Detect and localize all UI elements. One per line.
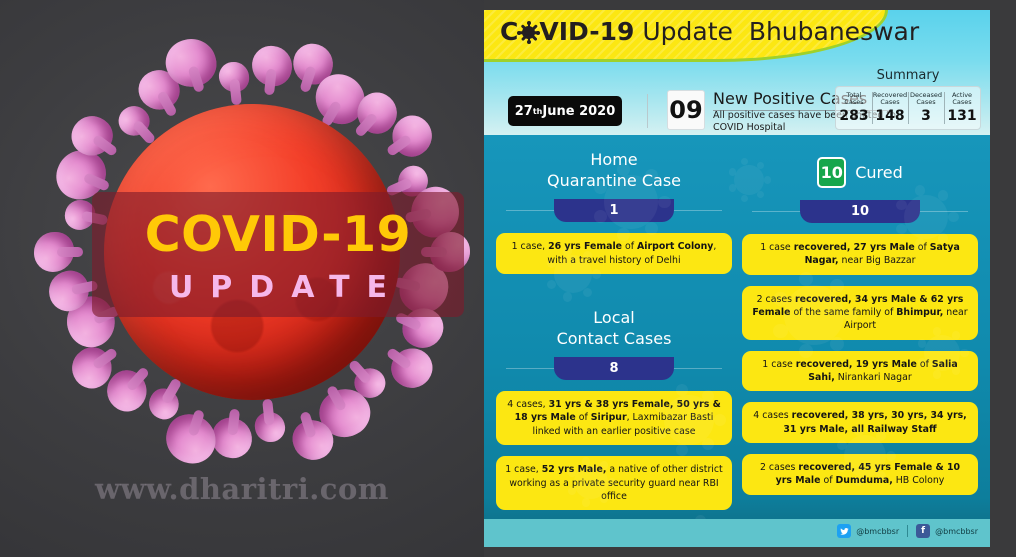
background-virus-decoration [734,165,764,195]
watermark-text: www.dharitri.com [0,472,484,506]
cured-title: Cured [855,162,903,183]
summary-cell-label: Recovered Cases [872,92,908,107]
background-virus-decoration [844,435,886,477]
summary-cell-value: 148 [875,108,904,124]
summary-label: Summary [833,68,983,83]
header-gap [733,17,749,46]
summary-cell-recovered: Recovered Cases 148 [872,87,908,129]
header-city: Bhubaneswar [749,17,919,46]
background-virus-decoration [574,465,608,499]
background-virus-decoration [784,285,844,345]
header-update-label: Update [642,17,733,46]
covid-update-poster: C VID-19 Update Bhubaneswar 27th June 20… [484,10,990,547]
virus-spike [254,411,287,444]
background-virus-decoration [604,175,658,229]
facebook-icon: f [916,524,930,538]
new-cases-count: 09 [667,90,705,130]
summary-cell-total: Total Cases 283 [836,87,872,129]
virus-icon [518,22,539,43]
social-separator [907,525,908,537]
local-contact-title: Local Contact Cases [496,307,732,349]
summary-cell-value: 283 [839,108,868,124]
local-contact-title-line1: Local [593,308,634,327]
summary-box: Total Cases 283 Recovered Cases 148 Dece… [835,86,981,130]
local-contact-count: 8 [554,357,674,380]
local-contact-count-wrap: 8 [496,357,732,380]
social-links: @bmcbbsr f @bmcbbsr [837,524,978,538]
date-badge: 27th June 2020 [508,96,622,126]
page-subtitle: UPDATE [92,270,464,305]
summary-cell-active: Active Cases 131 [944,87,980,129]
virus-spike [384,341,440,397]
virus-photo-panel: COVID-19 UPDATE www.dharitri.com [0,0,484,557]
summary-cell-label: Deceased Cases [908,92,944,107]
cured-header: 10 Cured [742,157,978,188]
virus-spike [210,416,254,460]
case-card: 1 case, 26 yrs Female of Airport Colony,… [496,233,732,274]
background-virus-decoration [554,255,592,293]
facebook-link[interactable]: f @bmcbbsr [916,524,978,538]
header-divider [647,94,648,128]
background-virus-decoration [904,195,948,239]
summary-cell-label: Total Cases [836,92,872,107]
brand-prefix: C [500,17,518,46]
poster-footer: @bmcbbsr f @bmcbbsr [484,519,990,547]
twitter-handle: @bmcbbsr [856,527,899,536]
twitter-icon [837,524,851,538]
poster-body: Home Quarantine Case 1 1 case, 26 yrs Fe… [484,135,990,547]
brand-suffix: VID-19 [539,17,634,46]
facebook-handle: @bmcbbsr [935,527,978,536]
virus-spike [217,60,250,93]
summary-cell-value: 3 [921,108,931,124]
cured-badge: 10 [817,157,846,188]
home-quarantine-title-line1: Home [590,150,637,169]
date-month-year: June 2020 [542,104,615,119]
screenshot-root: COVID-19 UPDATE www.dharitri.com C [0,0,1016,557]
date-ordinal: th [533,107,543,116]
summary-cell-value: 131 [947,108,976,124]
page-title: COVID-19 [92,206,464,263]
summary-cell-label: Active Cases [944,92,980,107]
title-plate: COVID-19 UPDATE [92,192,464,317]
local-contact-title-line2: Contact Cases [557,329,672,348]
background-virus-decoration [664,395,714,445]
background-virus-decoration [924,335,960,371]
summary-cell-deceased: Deceased Cases 3 [908,87,944,129]
virus-spike [250,44,294,88]
date-day: 27 [515,104,533,119]
twitter-link[interactable]: @bmcbbsr [837,524,899,538]
virus-spike [34,232,74,272]
poster-brand-title: C VID-19 Update Bhubaneswar [500,17,919,46]
